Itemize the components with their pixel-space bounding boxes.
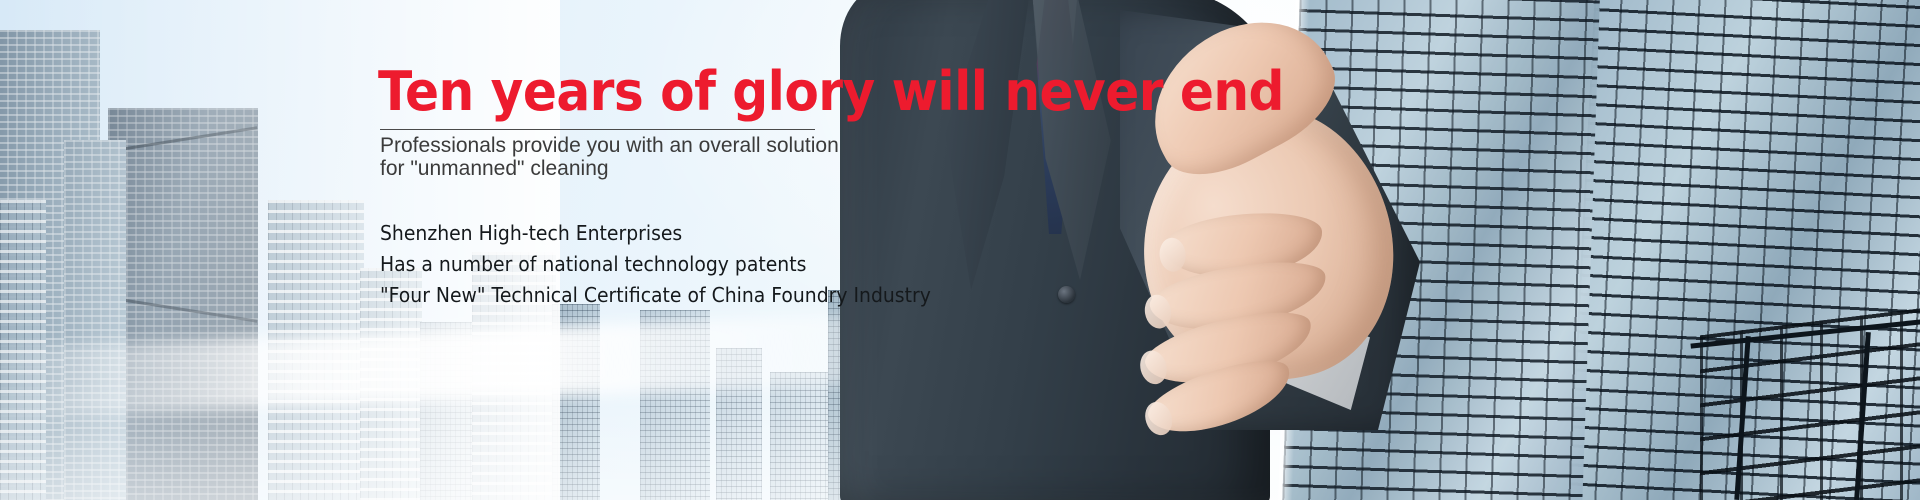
credentials-list: Shenzhen High-tech Enterprises Has a num… xyxy=(380,218,1078,311)
list-item: Has a number of national technology pate… xyxy=(380,249,1036,280)
banner-headline: Ten years of glory will never end xyxy=(378,62,1029,122)
list-item: Shenzhen High-tech Enterprises xyxy=(380,218,1036,249)
headline-divider xyxy=(380,129,815,130)
fingers xyxy=(1096,196,1373,460)
list-item: "Four New" Technical Certificate of Chin… xyxy=(380,280,1036,311)
banner-subtitle: Professionals provide you with an overal… xyxy=(380,134,1078,180)
banner-copy: Ten years of glory will never end Profes… xyxy=(378,62,1078,311)
promo-banner: Ten years of glory will never end Profes… xyxy=(0,0,1920,500)
